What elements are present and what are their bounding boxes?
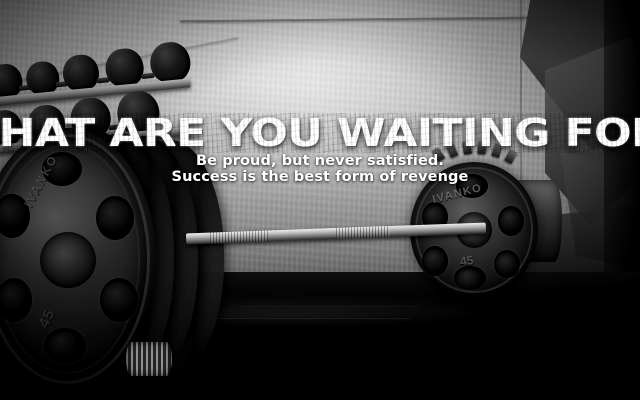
- motivational-poster: IVANKO 45 IVANKO 45: [0, 0, 640, 400]
- poster-headline: WHAT ARE YOU WAITING FOR?: [0, 113, 640, 153]
- poster-text-layer: WHAT ARE YOU WAITING FOR? Be proud, but …: [0, 0, 640, 400]
- poster-subtitle-line-1: Be proud, but never satisfied.: [0, 153, 640, 169]
- poster-subtitle-line-2: Success is the best form of revenge: [0, 169, 640, 185]
